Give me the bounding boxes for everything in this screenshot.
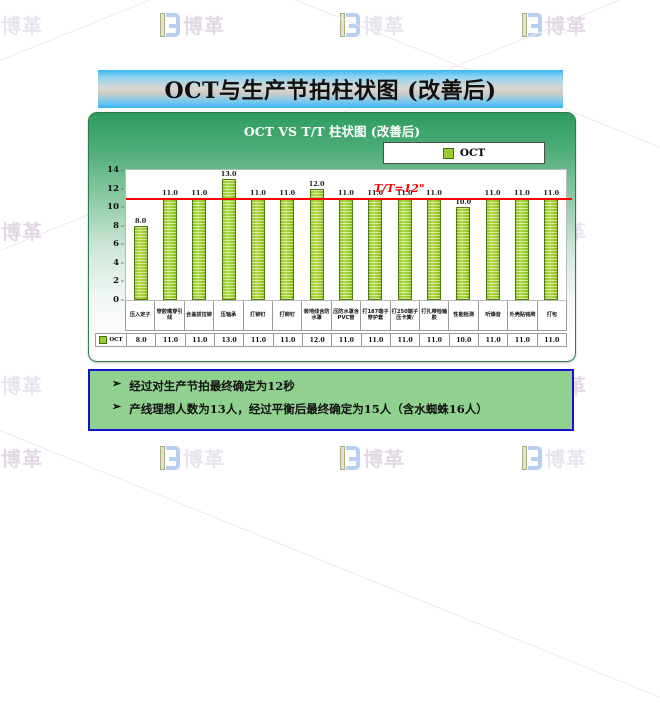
legend-swatch-oct bbox=[443, 148, 454, 159]
y-axis-tick-label: 14 bbox=[107, 165, 119, 175]
bullet-arrow-icon: ➢ bbox=[112, 401, 121, 413]
watermark-logo: 博革 bbox=[160, 443, 225, 472]
bar-cell: 11.0 bbox=[243, 170, 272, 300]
x-axis-category-label: 性能检测 bbox=[449, 301, 478, 330]
bar-cell: 11.0 bbox=[185, 170, 214, 300]
data-table-row: OCT 8.011.011.013.011.011.012.011.011.01… bbox=[95, 333, 567, 347]
bar-value-label: 12.0 bbox=[309, 180, 325, 188]
watermark-logo: 博革 bbox=[0, 10, 43, 39]
bar bbox=[134, 226, 148, 300]
x-axis-category-label: 压防水罩含PVC管 bbox=[332, 301, 361, 330]
watermark-text: 博革 bbox=[363, 443, 405, 472]
bar-cell: 11.0 bbox=[537, 170, 566, 300]
watermark-logo: 博革 bbox=[0, 216, 43, 245]
watermark-logo: 博革 bbox=[522, 443, 587, 472]
target-line-label: T/T=12" bbox=[374, 182, 425, 195]
bar bbox=[544, 198, 558, 300]
y-axis-tick-label: 8 bbox=[113, 221, 119, 231]
bar bbox=[163, 198, 177, 300]
chart-panel: OCT VS T/T 柱状图 (改善后) OCT 02468101214 8.0… bbox=[88, 112, 576, 362]
y-axis-tick-label: 4 bbox=[113, 258, 119, 268]
x-axis-category-label: 打扎带检输胶 bbox=[420, 301, 449, 330]
page-title-banner: OCT与生产节拍柱状图 (改善后) bbox=[98, 70, 563, 108]
data-table-cell: 11.0 bbox=[244, 334, 273, 346]
data-table-cell: 11.0 bbox=[508, 334, 537, 346]
legend-label-oct: OCT bbox=[460, 147, 485, 159]
data-table-cell: 11.0 bbox=[362, 334, 391, 346]
x-axis-category-label: 压轴承 bbox=[214, 301, 243, 330]
bg-logo-icon bbox=[340, 446, 360, 470]
bar-value-label: 11.0 bbox=[514, 189, 530, 197]
bar-group: 8.011.011.013.011.011.012.011.011.011.01… bbox=[126, 170, 566, 300]
bar-cell: 12.0 bbox=[302, 170, 331, 300]
watermark-text: 博革 bbox=[1, 216, 43, 245]
x-axis-category-label: 装地线含防水罩 bbox=[302, 301, 331, 330]
note-line: ➢经过对生产节拍最终确定为12秒 bbox=[112, 378, 572, 394]
plot-area: 8.011.011.013.011.011.012.011.011.011.01… bbox=[125, 169, 567, 301]
legend-swatch-icon bbox=[99, 336, 107, 344]
bullet-arrow-icon: ➢ bbox=[112, 378, 121, 390]
bar-value-label: 8.0 bbox=[135, 217, 146, 225]
x-axis-category-label: 合盖拔拉铆 bbox=[185, 301, 214, 330]
x-axis-category-label: 打铆钉 bbox=[244, 301, 273, 330]
y-axis-tick-label: 0 bbox=[113, 295, 119, 305]
background-diagonal-line bbox=[0, 430, 660, 716]
bar-value-label: 11.0 bbox=[191, 189, 207, 197]
watermark-text: 博革 bbox=[545, 10, 587, 39]
bar bbox=[339, 198, 353, 300]
y-axis-tick bbox=[121, 170, 124, 171]
watermark-logo: 博革 bbox=[160, 10, 225, 39]
y-axis-tick bbox=[121, 300, 124, 301]
background-diagonal-line bbox=[0, 0, 660, 61]
bar bbox=[398, 198, 412, 300]
watermark-text: 博革 bbox=[1, 370, 43, 399]
watermark-text: 博革 bbox=[1, 10, 43, 39]
data-table-cell: 10.0 bbox=[450, 334, 479, 346]
x-axis-category-label: 打187端子穿护套 bbox=[361, 301, 390, 330]
note-text: 产线理想人数为13人，经过平衡后最终确定为15人（含水蜘蛛16人） bbox=[129, 401, 488, 417]
watermark-text: 博革 bbox=[183, 443, 225, 472]
bar-cell: 13.0 bbox=[214, 170, 243, 300]
y-axis-tick-label: 6 bbox=[113, 239, 119, 249]
target-line bbox=[126, 198, 572, 201]
bar-cell: 11.0 bbox=[155, 170, 184, 300]
bar bbox=[427, 198, 441, 300]
page-title: OCT与生产节拍柱状图 (改善后) bbox=[164, 73, 496, 105]
x-axis-category-label: 打铆钉 bbox=[273, 301, 302, 330]
x-axis-label-table: 压入定子穿胶嘴穿引线合盖拔拉铆压轴承打铆钉打铆钉装地线含防水罩压防水罩含PVC管… bbox=[125, 301, 567, 331]
y-axis-tick bbox=[121, 262, 124, 263]
bar-cell: 11.0 bbox=[507, 170, 536, 300]
x-axis-category-label: 外壳贴铭牌 bbox=[508, 301, 537, 330]
y-axis-tick bbox=[121, 225, 124, 226]
watermark-logo: 博革 bbox=[0, 370, 43, 399]
bg-logo-icon bbox=[160, 13, 180, 37]
bg-logo-icon bbox=[522, 13, 542, 37]
y-axis: 02468101214 bbox=[95, 169, 123, 301]
y-axis-tick bbox=[121, 244, 124, 245]
bar bbox=[486, 198, 500, 300]
x-axis-category-label: 听燥音 bbox=[479, 301, 508, 330]
conclusion-note-box: ➢经过对生产节拍最终确定为12秒➢产线理想人数为13人，经过平衡后最终确定为15… bbox=[88, 369, 574, 431]
watermark-text: 博革 bbox=[363, 10, 405, 39]
y-axis-tick bbox=[121, 281, 124, 282]
bar-cell: 8.0 bbox=[126, 170, 155, 300]
bar bbox=[515, 198, 529, 300]
y-axis-tick-label: 12 bbox=[107, 184, 119, 194]
watermark-logo: 博革 bbox=[0, 443, 43, 472]
bar bbox=[251, 198, 265, 300]
watermark-logo: 博革 bbox=[340, 443, 405, 472]
bar-cell: 11.0 bbox=[331, 170, 360, 300]
data-table-cell: 13.0 bbox=[215, 334, 244, 346]
data-table-cell: 12.0 bbox=[303, 334, 332, 346]
x-axis-category-label: 穿胶嘴穿引线 bbox=[155, 301, 184, 330]
data-row-header-label: OCT bbox=[109, 337, 122, 343]
bg-logo-icon bbox=[522, 446, 542, 470]
bar-value-label: 11.0 bbox=[279, 189, 295, 197]
data-table-cell: 11.0 bbox=[186, 334, 215, 346]
y-axis-tick-label: 2 bbox=[113, 276, 119, 286]
bg-logo-icon bbox=[160, 446, 180, 470]
bar-value-label: 13.0 bbox=[221, 170, 237, 178]
x-axis-category-label: 打250端子压卡簧/ bbox=[391, 301, 420, 330]
data-table-cell: 11.0 bbox=[156, 334, 185, 346]
data-table-cell: 11.0 bbox=[332, 334, 361, 346]
bar-value-label: 11.0 bbox=[162, 189, 178, 197]
bar bbox=[368, 198, 382, 300]
watermark-logo: 博革 bbox=[340, 10, 405, 39]
data-table-cell: 11.0 bbox=[538, 334, 566, 346]
watermark-logo: 博革 bbox=[522, 10, 587, 39]
bar-value-label: 11.0 bbox=[250, 189, 266, 197]
bar-cell: 10.0 bbox=[449, 170, 478, 300]
y-axis-tick bbox=[121, 188, 124, 189]
watermark-text: 博革 bbox=[545, 443, 587, 472]
bar-value-label: 11.0 bbox=[338, 189, 354, 197]
bg-logo-icon bbox=[340, 13, 360, 37]
chart-title: OCT VS T/T 柱状图 (改善后) bbox=[89, 121, 575, 140]
y-axis-tick-label: 10 bbox=[107, 202, 119, 212]
y-axis-tick bbox=[121, 207, 124, 208]
note-line: ➢产线理想人数为13人，经过平衡后最终确定为15人（含水蜘蛛16人） bbox=[112, 401, 572, 417]
bar bbox=[310, 189, 324, 300]
bar bbox=[280, 198, 294, 300]
x-axis-category-label: 打包 bbox=[538, 301, 566, 330]
watermark-text: 博革 bbox=[1, 443, 43, 472]
bar bbox=[456, 207, 470, 300]
bar-cell: 11.0 bbox=[478, 170, 507, 300]
data-table-cell: 11.0 bbox=[274, 334, 303, 346]
chart-legend: OCT bbox=[383, 142, 545, 164]
bar-value-label: 11.0 bbox=[543, 189, 559, 197]
data-table-cell: 11.0 bbox=[479, 334, 508, 346]
note-text: 经过对生产节拍最终确定为12秒 bbox=[129, 378, 295, 394]
x-axis-category-label: 压入定子 bbox=[126, 301, 155, 330]
data-table-cell: 11.0 bbox=[391, 334, 420, 346]
watermark-text: 博革 bbox=[183, 10, 225, 39]
data-table-cell: 8.0 bbox=[127, 334, 156, 346]
bar-value-label: 11.0 bbox=[485, 189, 501, 197]
bar-value-label: 11.0 bbox=[426, 189, 442, 197]
data-table-cell: 11.0 bbox=[420, 334, 449, 346]
bar bbox=[192, 198, 206, 300]
data-row-header: OCT bbox=[96, 334, 127, 346]
bar-cell: 11.0 bbox=[273, 170, 302, 300]
